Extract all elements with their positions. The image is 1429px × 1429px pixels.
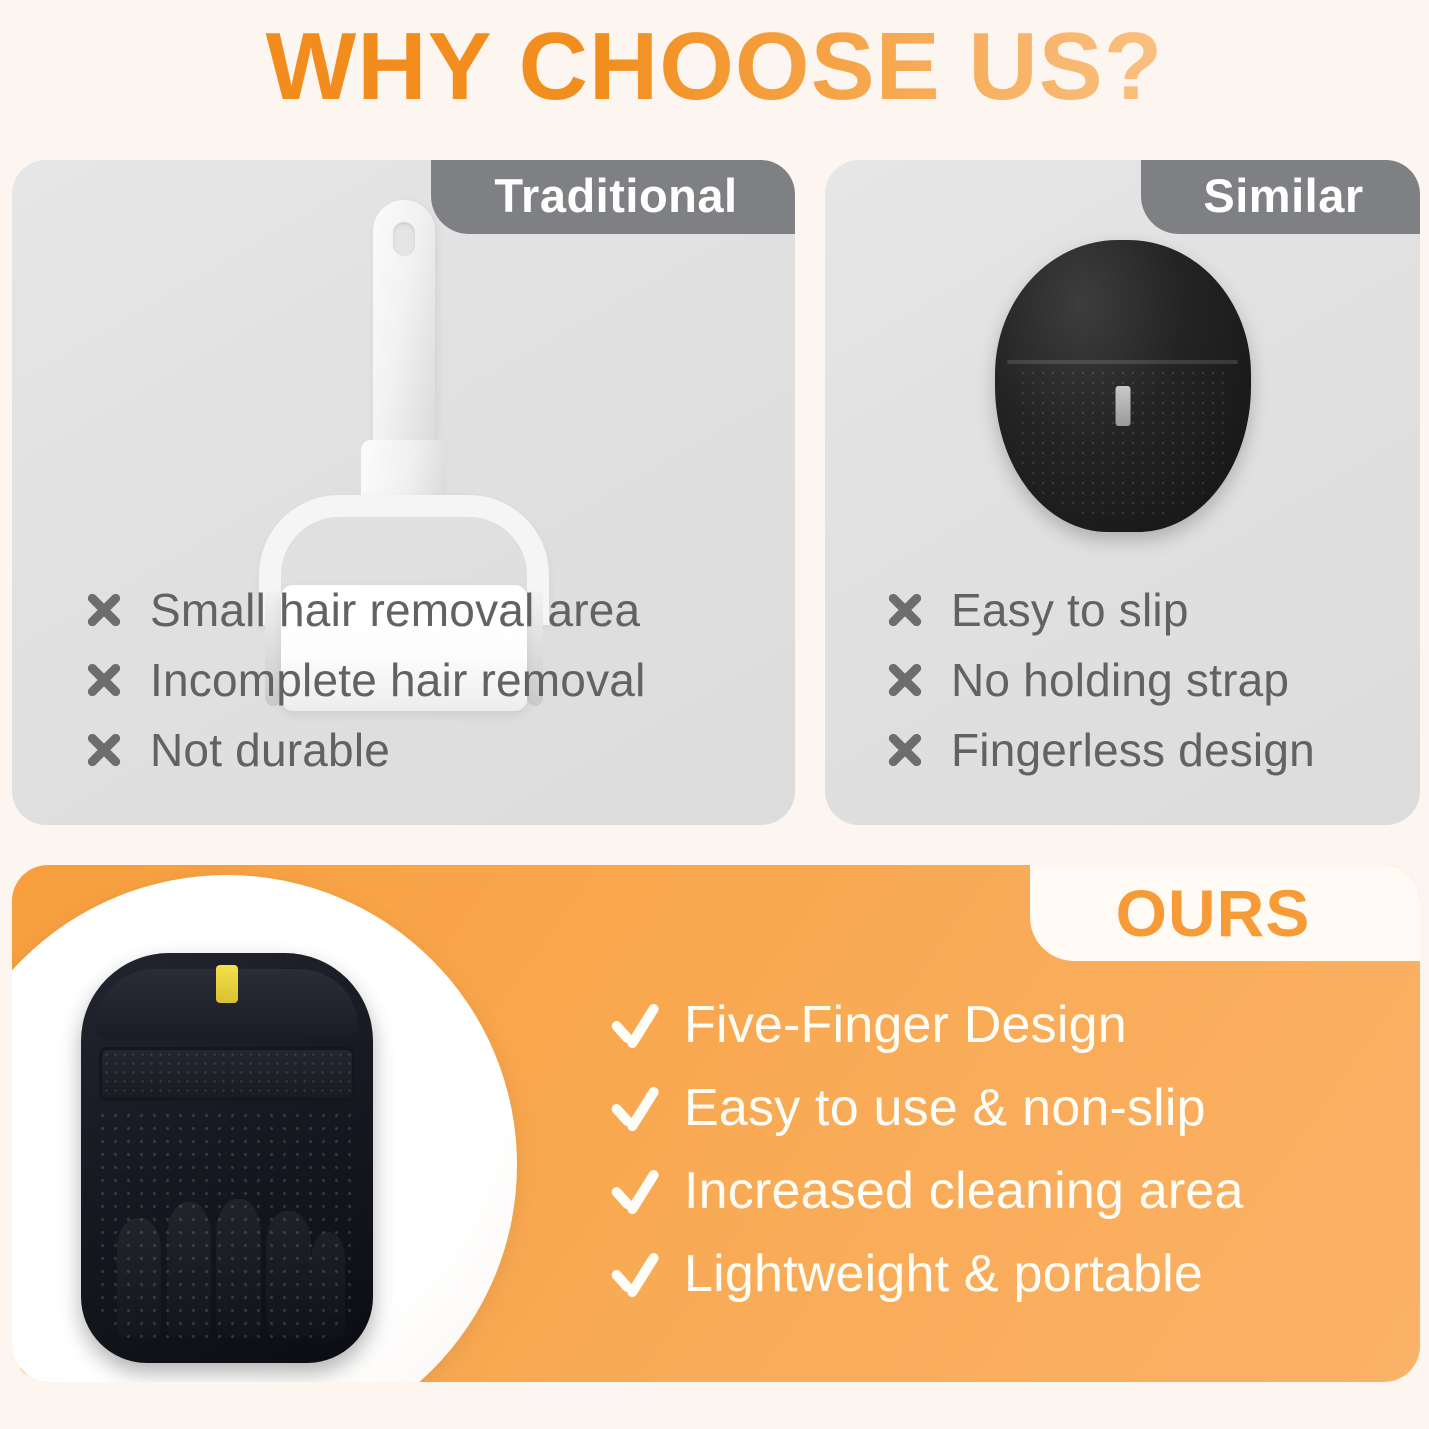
- list-item: Increased cleaning area: [608, 1149, 1244, 1232]
- ours-panel: OURS Five-Finger Design Easy to use & no…: [12, 865, 1420, 1382]
- glove-finger: [167, 1202, 212, 1338]
- five-finger-mesh-glove-icon: [81, 953, 373, 1363]
- pro-label: Five-Finger Design: [684, 995, 1127, 1055]
- pro-label: Easy to use & non-slip: [684, 1078, 1206, 1138]
- list-item: Incomplete hair removal: [84, 645, 645, 715]
- pad-seam: [1007, 360, 1237, 364]
- glove-finger: [311, 1232, 345, 1337]
- list-item: Lightweight & portable: [608, 1232, 1244, 1315]
- list-item: Easy to use & non-slip: [608, 1066, 1244, 1149]
- x-mark-icon: [885, 660, 925, 700]
- comparison-card-traditional: Traditional Small hair removal area Inco…: [12, 160, 795, 825]
- check-mark-icon: [608, 1167, 656, 1215]
- page-title: WHY CHOOSE US?: [0, 8, 1429, 126]
- list-item: Fingerless design: [885, 715, 1315, 785]
- roller-hang-hole: [393, 222, 415, 256]
- con-label: Incomplete hair removal: [150, 653, 645, 707]
- ours-product-circle: [12, 875, 517, 1382]
- x-mark-icon: [885, 730, 925, 770]
- pro-label: Increased cleaning area: [684, 1161, 1244, 1221]
- comparison-card-similar: Similar Easy to slip No holding strap Fi…: [825, 160, 1420, 825]
- x-mark-icon: [84, 730, 124, 770]
- pros-list: Five-Finger Design Easy to use & non-sli…: [608, 983, 1244, 1315]
- x-mark-icon: [885, 590, 925, 630]
- cons-list-similar: Easy to slip No holding strap Fingerless…: [885, 575, 1315, 785]
- con-label: Not durable: [150, 723, 390, 777]
- pro-label: Lightweight & portable: [684, 1244, 1203, 1304]
- list-item: No holding strap: [885, 645, 1315, 715]
- con-label: Easy to slip: [951, 583, 1189, 637]
- check-mark-icon: [608, 1084, 656, 1132]
- x-mark-icon: [84, 590, 124, 630]
- con-label: No holding strap: [951, 653, 1289, 707]
- badge-similar: Similar: [1141, 160, 1420, 234]
- glove-mesh: [96, 1109, 359, 1347]
- con-label: Small hair removal area: [150, 583, 640, 637]
- cons-list-traditional: Small hair removal area Incomplete hair …: [84, 575, 645, 785]
- glove-strap: [99, 1047, 356, 1100]
- glove-finger: [266, 1211, 311, 1337]
- check-mark-icon: [608, 1250, 656, 1298]
- pad-tab: [1115, 386, 1130, 426]
- glove-finger: [216, 1199, 261, 1337]
- con-label: Fingerless design: [951, 723, 1315, 777]
- list-item: Not durable: [84, 715, 645, 785]
- list-item: Five-Finger Design: [608, 983, 1244, 1066]
- x-mark-icon: [84, 660, 124, 700]
- list-item: Small hair removal area: [84, 575, 645, 645]
- check-mark-icon: [608, 1001, 656, 1049]
- glove-yellow-tab: [216, 965, 238, 1003]
- list-item: Easy to slip: [885, 575, 1315, 645]
- glove-finger: [117, 1218, 162, 1337]
- roller-handle: [373, 200, 435, 462]
- badge-ours: OURS: [1030, 865, 1420, 961]
- black-mesh-pad-icon: [995, 240, 1251, 532]
